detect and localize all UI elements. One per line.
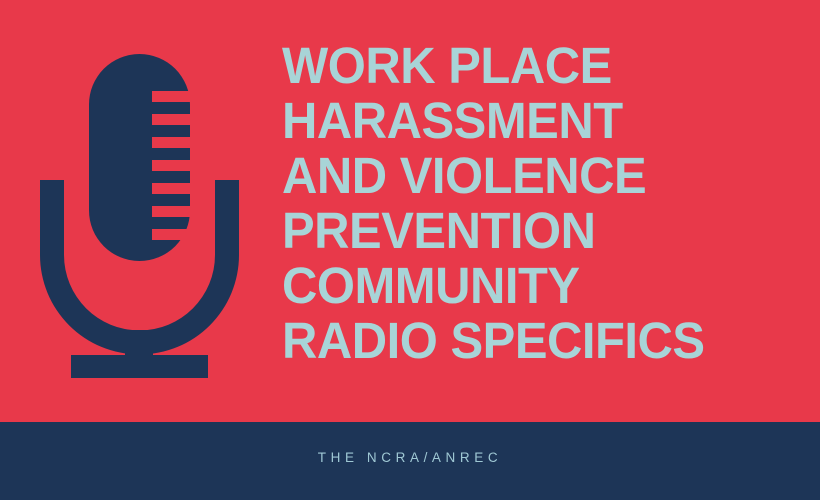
poster-slide: WORK PLACE HARASSMENT AND VIOLENCE PREVE… [0, 0, 820, 500]
title-line-2: HARASSMENT [282, 93, 781, 148]
title-line-6: RADIO SPECIFICS [282, 313, 781, 368]
footer-organization-label: THE NCRA/ANREC [0, 450, 820, 465]
title-line-1: WORK PLACE [282, 38, 781, 93]
microphone-icon [0, 0, 270, 422]
title-line-5: COMMUNITY [282, 258, 781, 313]
title-line-3: AND VIOLENCE [282, 148, 781, 203]
page-title: WORK PLACE HARASSMENT AND VIOLENCE PREVE… [282, 38, 802, 368]
footer-band: THE NCRA/ANREC [0, 422, 820, 500]
title-line-4: PREVENTION [282, 203, 781, 258]
